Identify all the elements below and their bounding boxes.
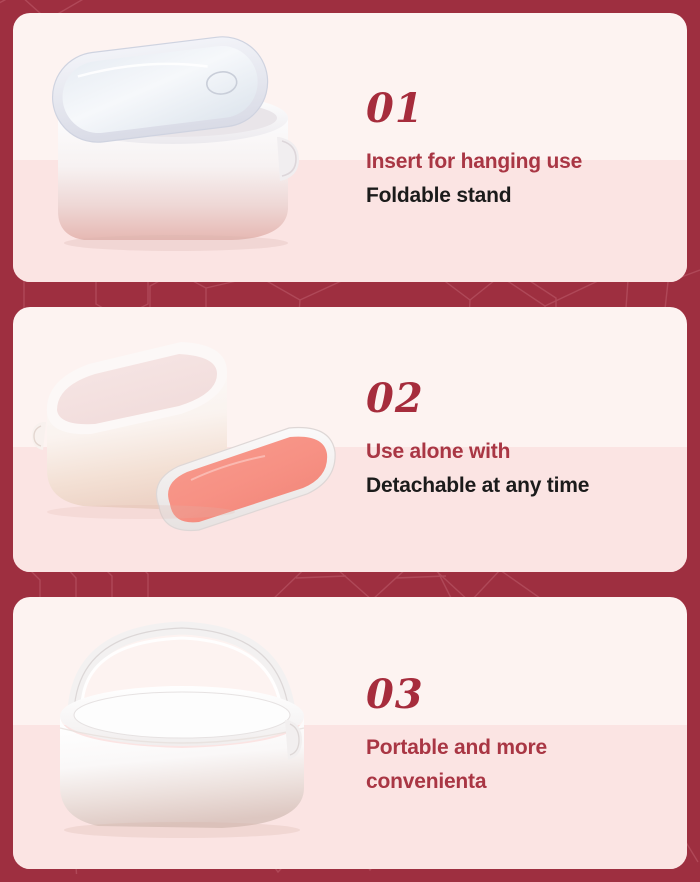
product-photo-open-mirror-lid bbox=[13, 13, 358, 282]
step-number: 01 bbox=[366, 89, 687, 129]
card-headline: Use alone with bbox=[366, 437, 687, 467]
card-headline: Insert for hanging use bbox=[366, 147, 687, 177]
product-photo-closed-with-handle bbox=[13, 597, 358, 869]
card-subline: Foldable stand bbox=[366, 181, 687, 211]
product-photo-detached-lid bbox=[13, 307, 358, 572]
feature-card-03: 03 Portable and more convenienta bbox=[13, 597, 687, 869]
card-text-block: 01 Insert for hanging use Foldable stand bbox=[358, 13, 687, 282]
feature-card-list: 01 Insert for hanging use Foldable stand bbox=[0, 0, 700, 882]
feature-card-01: 01 Insert for hanging use Foldable stand bbox=[13, 13, 687, 282]
card-text-block: 02 Use alone with Detachable at any time bbox=[358, 307, 687, 572]
step-number: 03 bbox=[366, 675, 687, 715]
card-text-block: 03 Portable and more convenienta bbox=[358, 597, 687, 869]
card-headline: Portable and more bbox=[366, 733, 687, 763]
step-number: 02 bbox=[366, 379, 687, 419]
card-subline: Detachable at any time bbox=[366, 471, 687, 501]
card-subline: convenienta bbox=[366, 767, 687, 797]
feature-card-02: 02 Use alone with Detachable at any time bbox=[13, 307, 687, 572]
